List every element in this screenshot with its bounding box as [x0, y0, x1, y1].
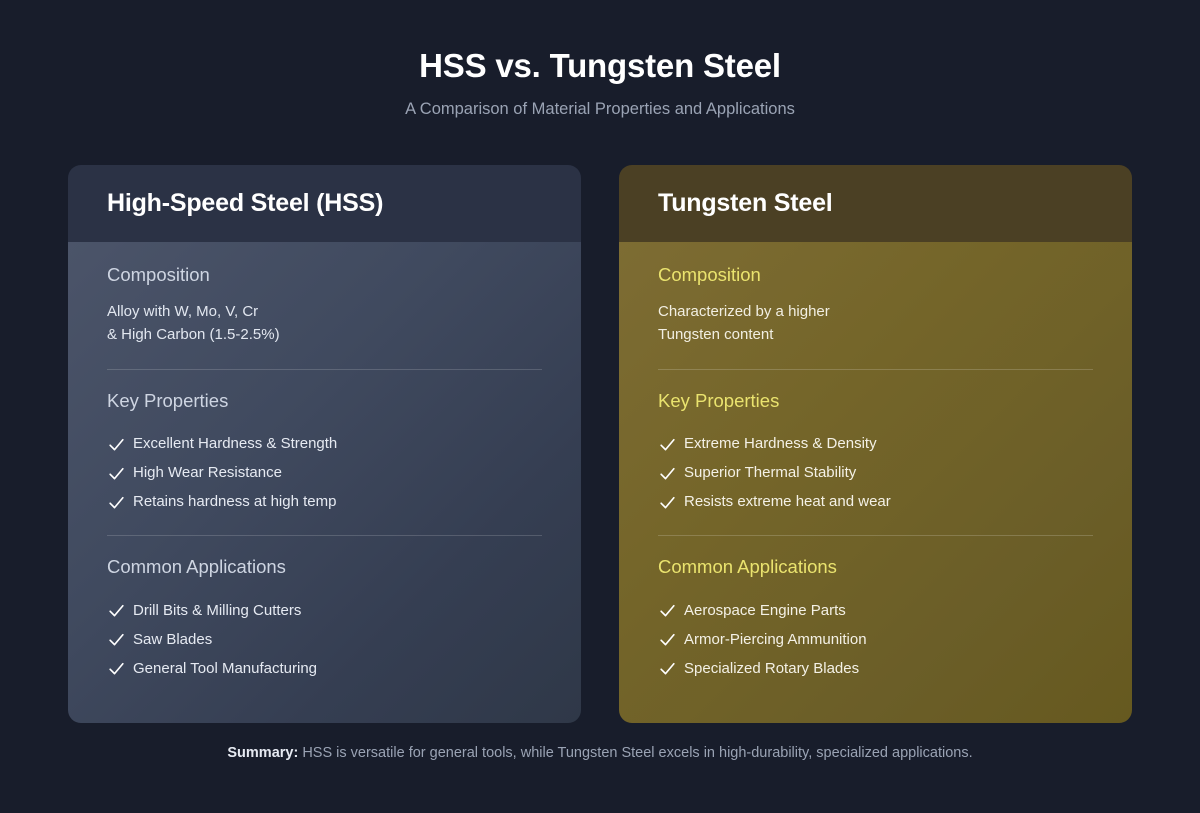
- tungsten-composition-text: Characterized by a higher Tungsten conte…: [658, 300, 1093, 347]
- check-icon: [107, 659, 126, 678]
- check-icon: [107, 601, 126, 620]
- tungsten-property-label-2: Superior Thermal Stability: [684, 464, 856, 482]
- page-subtitle: A Comparison of Material Properties and …: [0, 100, 1200, 120]
- list-item: Specialized Rotary Blades: [658, 658, 1093, 679]
- tungsten-application-label-2: Armor-Piercing Ammunition: [684, 631, 867, 649]
- summary-label: Summary:: [227, 745, 298, 761]
- tungsten-divider-1: [658, 369, 1093, 370]
- hss-composition-line-2: & High Carbon (1.5-2.5%): [107, 323, 542, 346]
- check-icon: [658, 464, 677, 483]
- tungsten-application-label-1: Aerospace Engine Parts: [684, 602, 846, 620]
- hss-applications-list: Drill Bits & Milling Cutters Saw Blades: [107, 600, 542, 679]
- hss-application-label-2: Saw Blades: [133, 631, 212, 649]
- page-title: HSS vs. Tungsten Steel: [0, 48, 1200, 84]
- tungsten-composition-line-1: Characterized by a higher: [658, 300, 1093, 323]
- hss-composition-section: Composition Alloy with W, Mo, V, Cr & Hi…: [107, 264, 542, 347]
- comparison-page: HSS vs. Tungsten Steel A Comparison of M…: [0, 0, 1200, 813]
- card-hss-title: High-Speed Steel (HSS): [107, 189, 383, 218]
- tungsten-applications-heading: Common Applications: [658, 556, 1093, 578]
- hss-divider-2: [107, 535, 542, 536]
- hss-application-label-3: General Tool Manufacturing: [133, 660, 317, 678]
- list-item: Aerospace Engine Parts: [658, 600, 1093, 621]
- page-header: HSS vs. Tungsten Steel A Comparison of M…: [0, 0, 1200, 120]
- hss-property-label-3: Retains hardness at high temp: [133, 493, 336, 511]
- check-icon: [658, 435, 677, 454]
- list-item: Excellent Hardness & Strength: [107, 434, 542, 455]
- check-icon: [658, 659, 677, 678]
- check-icon: [107, 630, 126, 649]
- check-icon: [107, 435, 126, 454]
- card-tungsten-body: Composition Characterized by a higher Tu…: [619, 242, 1132, 723]
- list-item: Armor-Piercing Ammunition: [658, 629, 1093, 650]
- check-icon: [107, 493, 126, 512]
- tungsten-composition-heading: Composition: [658, 264, 1093, 286]
- hss-applications-heading: Common Applications: [107, 556, 542, 578]
- tungsten-property-label-3: Resists extreme heat and wear: [684, 493, 891, 511]
- card-hss-body: Composition Alloy with W, Mo, V, Cr & Hi…: [68, 242, 581, 723]
- check-icon: [107, 464, 126, 483]
- hss-properties-heading: Key Properties: [107, 390, 542, 412]
- card-hss[interactable]: High-Speed Steel (HSS) Composition Alloy…: [68, 165, 581, 723]
- hss-applications-section: Common Applications Drill Bits & Milling…: [107, 556, 542, 679]
- tungsten-applications-list: Aerospace Engine Parts Armor-Piercing Am…: [658, 600, 1093, 679]
- tungsten-divider-2: [658, 535, 1093, 536]
- tungsten-composition-section: Composition Characterized by a higher Tu…: [658, 264, 1093, 347]
- card-tungsten[interactable]: Tungsten Steel Composition Characterized…: [619, 165, 1132, 723]
- summary-footer: Summary: HSS is versatile for general to…: [0, 743, 1200, 763]
- tungsten-applications-section: Common Applications Aerospace Engine Par…: [658, 556, 1093, 679]
- card-hss-header: High-Speed Steel (HSS): [68, 165, 581, 242]
- list-item: Superior Thermal Stability: [658, 463, 1093, 484]
- hss-property-label-2: High Wear Resistance: [133, 464, 282, 482]
- list-item: High Wear Resistance: [107, 463, 542, 484]
- hss-property-label-1: Excellent Hardness & Strength: [133, 435, 337, 453]
- list-item: Retains hardness at high temp: [107, 492, 542, 513]
- tungsten-property-label-1: Extreme Hardness & Density: [684, 435, 877, 453]
- summary-text: HSS is versatile for general tools, whil…: [298, 745, 972, 761]
- hss-composition-line-1: Alloy with W, Mo, V, Cr: [107, 300, 542, 323]
- hss-properties-list: Excellent Hardness & Strength High Wear …: [107, 434, 542, 513]
- comparison-cards: High-Speed Steel (HSS) Composition Alloy…: [68, 165, 1132, 723]
- list-item: General Tool Manufacturing: [107, 658, 542, 679]
- hss-application-label-1: Drill Bits & Milling Cutters: [133, 602, 301, 620]
- list-item: Saw Blades: [107, 629, 542, 650]
- tungsten-properties-heading: Key Properties: [658, 390, 1093, 412]
- tungsten-application-label-3: Specialized Rotary Blades: [684, 660, 859, 678]
- card-tungsten-header: Tungsten Steel: [619, 165, 1132, 242]
- tungsten-properties-list: Extreme Hardness & Density Superior Ther…: [658, 434, 1093, 513]
- list-item: Resists extreme heat and wear: [658, 492, 1093, 513]
- check-icon: [658, 493, 677, 512]
- hss-divider-1: [107, 369, 542, 370]
- check-icon: [658, 601, 677, 620]
- list-item: Extreme Hardness & Density: [658, 434, 1093, 455]
- card-tungsten-title: Tungsten Steel: [658, 189, 833, 218]
- hss-composition-heading: Composition: [107, 264, 542, 286]
- hss-composition-text: Alloy with W, Mo, V, Cr & High Carbon (1…: [107, 300, 542, 347]
- hss-properties-section: Key Properties Excellent Hardness & Stre…: [107, 390, 542, 513]
- list-item: Drill Bits & Milling Cutters: [107, 600, 542, 621]
- check-icon: [658, 630, 677, 649]
- tungsten-composition-line-2: Tungsten content: [658, 323, 1093, 346]
- tungsten-properties-section: Key Properties Extreme Hardness & Densit…: [658, 390, 1093, 513]
